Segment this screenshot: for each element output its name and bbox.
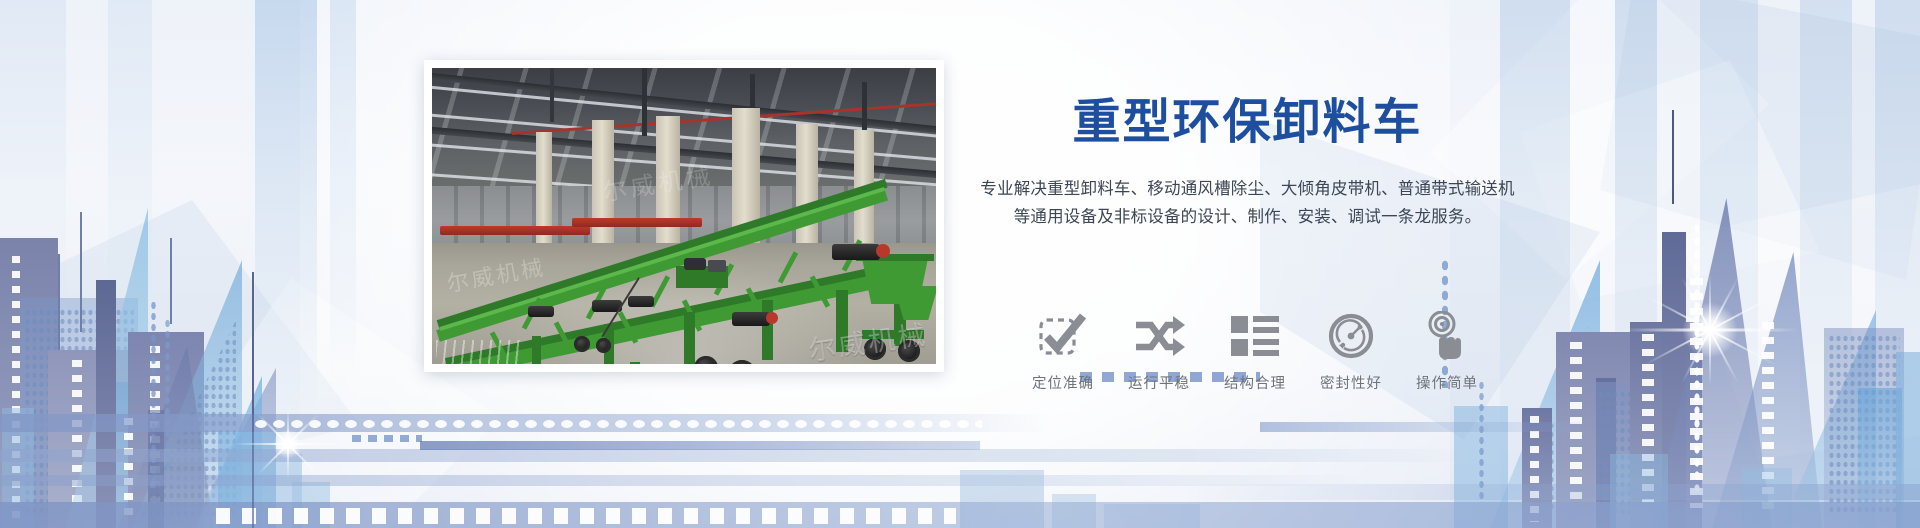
photo-conveyor-wheel	[574, 336, 590, 352]
tap-hand-icon	[1404, 310, 1490, 362]
list-blocks-icon	[1212, 310, 1298, 362]
cityscape-antenna	[58, 254, 60, 350]
photo-pillar	[796, 124, 818, 254]
photo-conveyor-wheel	[596, 338, 611, 353]
photo-conveyor-roller	[732, 312, 770, 326]
product-photo-card[interactable]: 尔威机械 尔威机械 尔威机械	[424, 60, 944, 372]
page-title: 重型环保卸料车	[975, 96, 1520, 149]
photo-conveyor-roller	[628, 296, 654, 307]
cityscape-tick-row	[352, 435, 422, 442]
cityscape-building	[96, 280, 116, 528]
photo-overhead-crane	[572, 218, 702, 227]
checkmark-in-dashed-box-icon	[1020, 310, 1106, 362]
background-vertical-rule	[252, 332, 254, 528]
cityscape-dot-column	[1693, 222, 1701, 492]
cityscape-antenna	[170, 238, 172, 324]
photo-conveyor-leg	[762, 300, 773, 360]
photo-conveyor-head-hub	[876, 244, 890, 258]
feature-label: 定位准确	[1020, 372, 1106, 393]
feature-label: 密封性好	[1308, 372, 1394, 393]
photo-roof-post	[550, 68, 554, 122]
product-photo: 尔威机械 尔威机械 尔威机械	[432, 68, 936, 364]
cityscape-dot-column	[1478, 380, 1485, 500]
background-ribbon	[1260, 422, 1580, 432]
photo-conveyor-roller	[528, 306, 554, 317]
feature-item-positioning-accuracy[interactable]: 定位准确	[1020, 310, 1106, 393]
banner-copy: 重型环保卸料车 专业解决重型卸料车、移动通风槽除尘、大倾角皮带机、普通带式输送机…	[975, 96, 1520, 232]
photo-conveyor-head-roller	[832, 244, 880, 260]
feature-item-good-sealing[interactable]: 密封性好	[1308, 310, 1394, 393]
background-dash-row	[216, 508, 956, 524]
cityscape-antenna	[1672, 110, 1674, 204]
background-ribbon	[0, 475, 1360, 486]
photo-conveyor-leg	[532, 336, 541, 364]
background-ribbon	[0, 449, 1480, 462]
photo-roof-post	[642, 68, 647, 136]
background-ribbon	[1180, 484, 1920, 500]
photo-conveyor-gearbox	[708, 260, 726, 272]
feature-label: 结构合理	[1212, 372, 1298, 393]
cityscape-antenna	[80, 212, 82, 332]
circular-seal-icon	[1308, 310, 1394, 362]
photo-rebar-bundle	[436, 340, 522, 364]
feature-item-simple-operation[interactable]: 操作简单	[1404, 310, 1490, 393]
photo-conveyor-outrigger	[630, 362, 640, 364]
photo-conveyor-leg	[684, 312, 695, 364]
feature-item-smooth-operation[interactable]: 运行平稳	[1116, 310, 1202, 393]
feature-label: 运行平稳	[1116, 372, 1202, 393]
background-ribbon	[420, 441, 980, 450]
photo-overhead-crane	[440, 226, 590, 235]
shuffle-arrows-icon	[1116, 310, 1202, 362]
feature-label: 操作简单	[1404, 372, 1490, 393]
cityscape-dot-column	[164, 318, 171, 468]
promo-banner: 尔威机械 尔威机械 尔威机械 重型环保卸料车 专业解决重型卸料车、移动通风槽除尘…	[0, 0, 1920, 528]
photo-conveyor-motor	[684, 258, 706, 270]
banner-description: 专业解决重型卸料车、移动通风槽除尘、大倾角皮带机、普通带式输送机等通用设备及非标…	[975, 175, 1520, 232]
feature-item-reasonable-structure[interactable]: 结构合理	[1212, 310, 1298, 393]
background-dot-row	[252, 418, 982, 430]
photo-conveyor-roller-hub	[766, 312, 778, 324]
feature-list: 定位准确 运行平稳	[1020, 310, 1490, 393]
